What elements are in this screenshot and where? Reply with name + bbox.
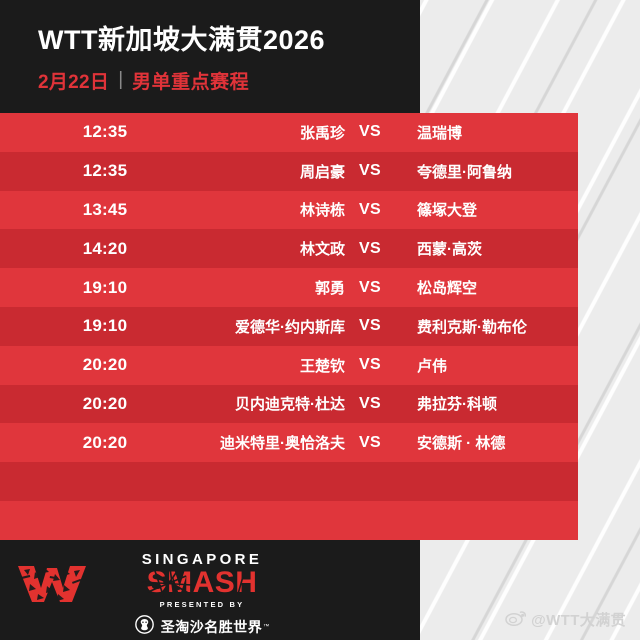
player-one-name: 王楚钦 bbox=[210, 355, 345, 376]
match-row: 19:10郭勇VS松岛辉空 bbox=[0, 268, 578, 307]
player-two-name: 费利克斯·勒布伦 bbox=[395, 316, 578, 337]
sponsor-lockup: 圣淘沙名胜世界 ™ bbox=[112, 615, 292, 639]
match-row: 20:20迪米特里·奥恰洛夫VS安德斯 · 林德 bbox=[0, 423, 578, 462]
versus-label: VS bbox=[345, 162, 395, 180]
player-two-name: 卢伟 bbox=[395, 355, 578, 376]
versus-label: VS bbox=[345, 240, 395, 258]
player-one-name: 林诗栋 bbox=[210, 199, 345, 220]
singapore-smash-logo: SINGAPORE SMASH bbox=[112, 552, 292, 639]
weibo-watermark: @WTT大满贯 bbox=[505, 609, 626, 630]
player-two-name: 弗拉芬·科顿 bbox=[395, 393, 578, 414]
player-two-name: 西蒙·高茨 bbox=[395, 238, 578, 259]
presented-by-text: PRESENTED BY bbox=[112, 600, 292, 609]
sponsor-trademark: ™ bbox=[263, 624, 269, 630]
footer-branding-bar: SINGAPORE SMASH bbox=[0, 540, 420, 640]
sponsor-lion-icon bbox=[135, 615, 154, 639]
match-row: 20:20王楚钦VS卢伟 bbox=[0, 346, 578, 385]
versus-label: VS bbox=[345, 123, 395, 141]
logo-smash-wrap: SMASH bbox=[112, 568, 292, 598]
versus-label: VS bbox=[345, 279, 395, 297]
match-time: 13:45 bbox=[0, 200, 210, 220]
player-two-name: 温瑞博 bbox=[395, 122, 578, 143]
match-time: 14:20 bbox=[0, 239, 210, 259]
event-category: 男单重点赛程 bbox=[132, 67, 249, 94]
logo-smash-text: SMASH bbox=[112, 568, 292, 598]
match-time: 12:35 bbox=[0, 161, 210, 181]
match-time: 20:20 bbox=[0, 394, 210, 414]
match-row: 19:10爱德华·约内斯库VS费利克斯·勒布伦 bbox=[0, 307, 578, 346]
versus-label: VS bbox=[345, 317, 395, 335]
versus-label: VS bbox=[345, 356, 395, 374]
match-time: 20:20 bbox=[0, 355, 210, 375]
empty-stripe bbox=[0, 462, 578, 501]
player-two-name: 篠塚大登 bbox=[395, 199, 578, 220]
player-one-name: 张禹珍 bbox=[210, 122, 345, 143]
player-one-name: 贝内迪克特·杜达 bbox=[210, 393, 345, 414]
player-two-name: 夸德里·阿鲁纳 bbox=[395, 161, 578, 182]
weibo-handle-text: @WTT大满贯 bbox=[531, 609, 626, 630]
versus-label: VS bbox=[345, 434, 395, 452]
match-time: 19:10 bbox=[0, 278, 210, 298]
versus-label: VS bbox=[345, 201, 395, 219]
empty-stripe bbox=[0, 501, 578, 540]
match-row: 12:35张禹珍VS温瑞博 bbox=[0, 113, 578, 152]
versus-label: VS bbox=[345, 395, 395, 413]
match-row: 13:45林诗栋VS篠塚大登 bbox=[0, 191, 578, 230]
match-row: 14:20林文政VS西蒙·高茨 bbox=[0, 229, 578, 268]
sponsor-name-text: 圣淘沙名胜世界 bbox=[161, 617, 263, 637]
match-schedule-panel: 12:35张禹珍VS温瑞博12:35周启豪VS夸德里·阿鲁纳13:45林诗栋VS… bbox=[0, 113, 578, 540]
match-row: 12:35周启豪VS夸德里·阿鲁纳 bbox=[0, 152, 578, 191]
event-date: 2月22日 bbox=[38, 67, 109, 94]
match-time: 19:10 bbox=[0, 316, 210, 336]
logo-city-text: SINGAPORE bbox=[112, 552, 292, 567]
player-two-name: 松岛辉空 bbox=[395, 277, 578, 298]
player-one-name: 郭勇 bbox=[210, 277, 345, 298]
player-one-name: 爱德华·约内斯库 bbox=[210, 316, 345, 337]
header-banner: WTT新加坡大满贯2026 2月22日 | 男单重点赛程 bbox=[0, 0, 420, 113]
player-one-name: 周启豪 bbox=[210, 161, 345, 182]
player-two-name: 安德斯 · 林德 bbox=[395, 432, 578, 453]
header-subtitle: 2月22日 | 男单重点赛程 bbox=[38, 67, 420, 94]
player-one-name: 林文政 bbox=[210, 238, 345, 259]
match-row: 20:20贝内迪克特·杜达VS弗拉芬·科顿 bbox=[0, 385, 578, 424]
weibo-icon bbox=[505, 610, 527, 630]
match-time: 20:20 bbox=[0, 433, 210, 453]
event-title: WTT新加坡大满贯2026 bbox=[38, 26, 420, 56]
player-one-name: 迪米特里·奥恰洛夫 bbox=[210, 432, 345, 453]
wtt-w-logo-icon bbox=[14, 558, 106, 606]
subtitle-separator: | bbox=[118, 69, 123, 91]
schedule-graphic: WTT新加坡大满贯2026 2月22日 | 男单重点赛程 12:35张禹珍VS温… bbox=[0, 0, 640, 640]
match-time: 12:35 bbox=[0, 122, 210, 142]
